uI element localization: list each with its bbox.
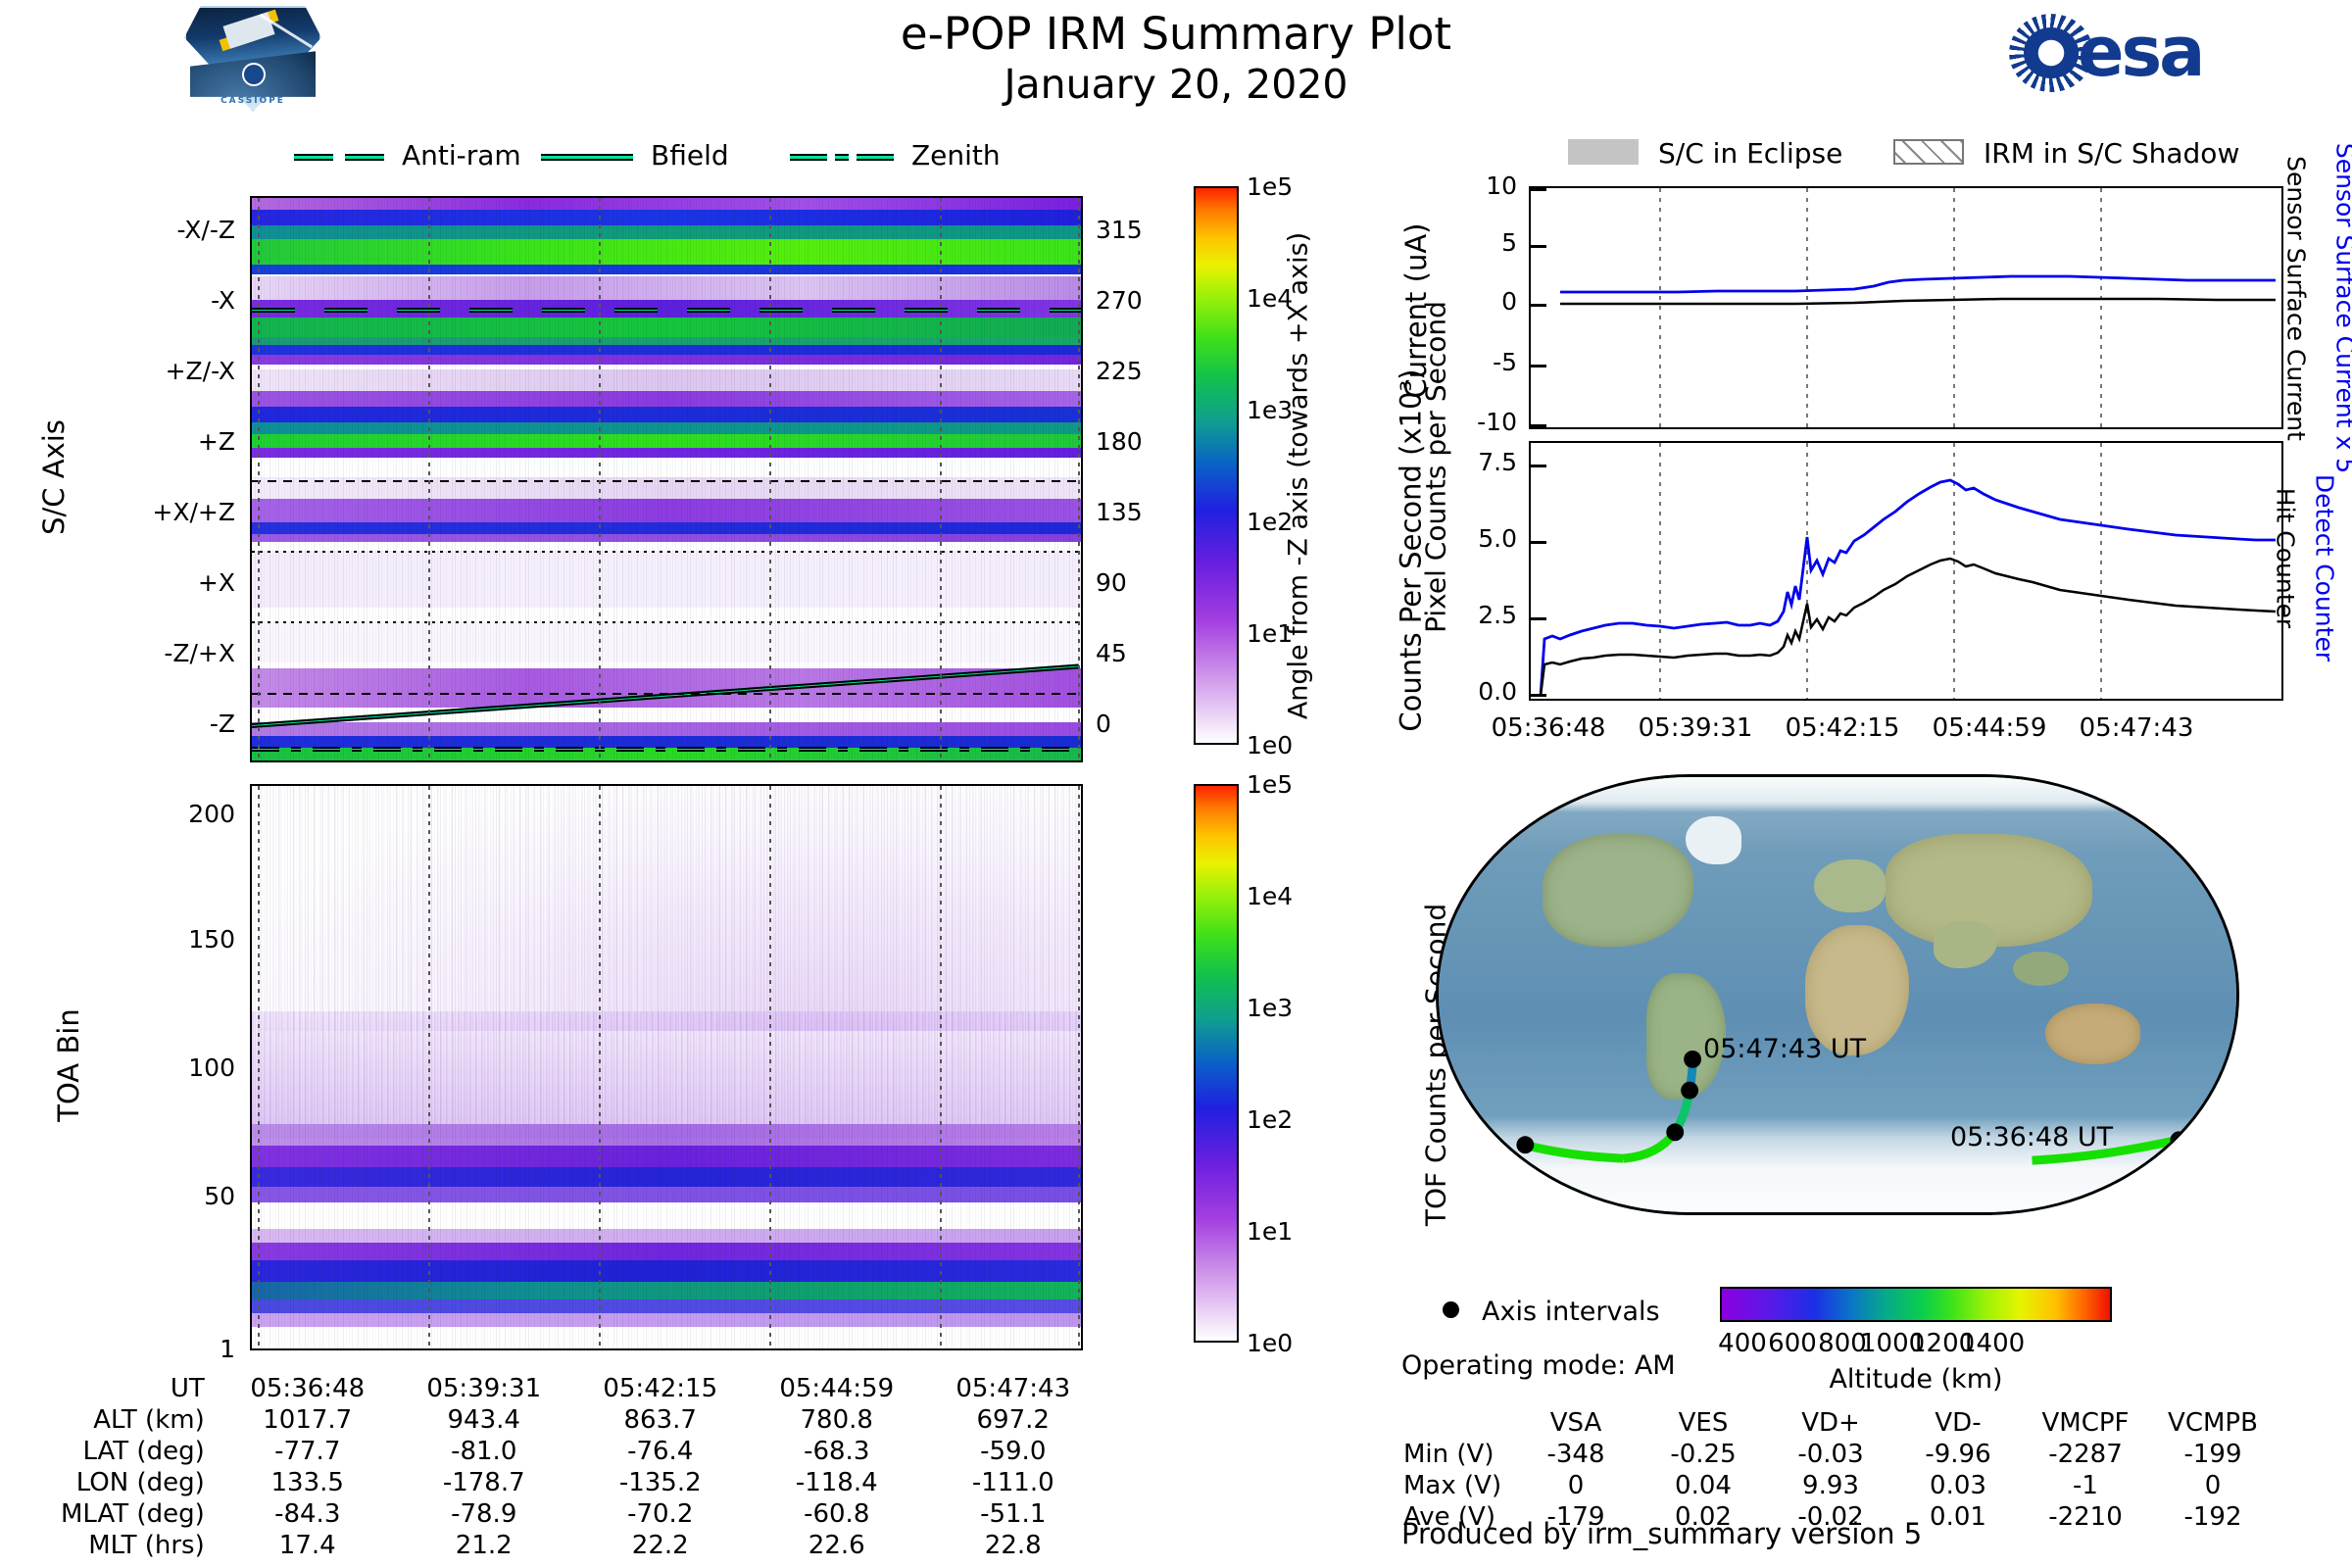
volt-col-vmcpf: VMCPF xyxy=(2023,1408,2148,1438)
toa-ytick-200: 200 xyxy=(78,800,235,828)
volt-max-vdm: 0.03 xyxy=(1895,1471,2021,1500)
eph-lat-0: -77.7 xyxy=(220,1437,395,1466)
toa-gridline xyxy=(599,786,601,1348)
spec-gridline xyxy=(1078,198,1080,760)
toa-bin-spectrogram-image xyxy=(252,786,1081,1348)
spec-ytick-6: -Z/+X xyxy=(59,639,235,667)
eph-ut-2: 05:42:15 xyxy=(573,1374,748,1403)
eph-alt-0: 1017.7 xyxy=(220,1405,395,1435)
toa-ytick-100: 100 xyxy=(78,1053,235,1082)
volt-min-vsa: -348 xyxy=(1513,1440,1639,1469)
world-map xyxy=(1436,774,2239,1215)
spec-ylabel: S/C Axis xyxy=(37,379,71,575)
current-tick xyxy=(1531,304,1546,307)
eph-row-label-mlat: MLAT (deg) xyxy=(61,1499,219,1529)
eph-mlt-0: 17.4 xyxy=(220,1531,395,1560)
eph-lat-2: -76.4 xyxy=(573,1437,748,1466)
sc-axis-spectrogram-plot[interactable] xyxy=(250,196,1083,762)
current-tick xyxy=(1531,424,1546,427)
legend-bfield-label: Bfield xyxy=(651,139,729,171)
volt-min-vdm: -9.96 xyxy=(1895,1440,2021,1469)
spec-ref-line xyxy=(252,693,1081,695)
current-tick xyxy=(1531,188,1546,191)
cbar2-tick-1e3: 1e3 xyxy=(1247,994,1293,1022)
cbar1-tick-1e0: 1e0 xyxy=(1247,731,1293,759)
spec-gridline xyxy=(428,198,430,760)
eph-mlt-3: 22.6 xyxy=(750,1531,924,1560)
counts-right-label-black: Hit Counter xyxy=(2272,421,2300,696)
operating-mode-label: Operating mode: AM xyxy=(1401,1350,1676,1381)
table-row: MLAT (deg) -84.3 -78.9 -70.2 -60.8 -51.1 xyxy=(61,1499,1101,1529)
spec-angle-tick-180: 180 xyxy=(1096,427,1143,456)
counts-tick xyxy=(1531,617,1546,620)
spec-angle-tick-0: 0 xyxy=(1096,710,1111,738)
voltage-table: VSA VES VD+ VD- VMCPF VCMPB Min (V) -348… xyxy=(1401,1406,2278,1534)
legend-zenith-dot xyxy=(835,154,849,161)
cbar2-tick-1e1: 1e1 xyxy=(1247,1217,1293,1246)
eclipse-legend: S/C in Eclipse IRM in S/C Shadow xyxy=(1568,137,2313,171)
toa-gridline xyxy=(428,786,430,1348)
zenith-trace xyxy=(252,747,1081,752)
volt-col-ves: VES xyxy=(1641,1408,1766,1438)
orbit-track-map[interactable]: 05:47:43 UT 05:36:48 UT xyxy=(1436,774,2239,1215)
counts-right-label-blue: Detect Counter xyxy=(2311,421,2339,715)
eph-lon-3: -118.4 xyxy=(750,1468,924,1497)
eph-ut-0: 05:36:48 xyxy=(220,1374,395,1403)
toa-ytick-50: 50 xyxy=(78,1182,235,1210)
counts-tick xyxy=(1531,541,1546,544)
eph-mlt-1: 21.2 xyxy=(397,1531,571,1560)
spec-angle-tick-45: 45 xyxy=(1096,639,1127,667)
spec-gridline xyxy=(769,198,771,760)
legend-shadow-label: IRM in S/C Shadow xyxy=(1984,137,2239,170)
esa-wordmark: esa xyxy=(2078,12,2202,92)
pixel-counts-colorbar xyxy=(1194,186,1239,745)
current-tick xyxy=(1531,365,1546,367)
eph-mlt-2: 22.2 xyxy=(573,1531,748,1560)
cassiope-logo: CASSIOPE xyxy=(184,6,321,112)
volt-col-vdp: VD+ xyxy=(1768,1408,1893,1438)
volt-row-max-label: Max (V) xyxy=(1403,1471,1511,1500)
table-row: UT 05:36:48 05:39:31 05:42:15 05:44:59 0… xyxy=(61,1374,1101,1403)
spec-gridline xyxy=(599,198,601,760)
volt-max-vsa: 0 xyxy=(1513,1471,1639,1500)
page-title: e-POP IRM Summary Plot xyxy=(0,8,2352,60)
eph-alt-3: 780.8 xyxy=(750,1405,924,1435)
altitude-colorbar xyxy=(1720,1287,2112,1322)
spec-ref-line xyxy=(252,551,1081,553)
eph-mlat-2: -70.2 xyxy=(573,1499,748,1529)
legend-bfield-line xyxy=(541,154,633,161)
volt-min-ves: -0.25 xyxy=(1641,1440,1766,1469)
legend-antiram-dash-b xyxy=(345,154,384,161)
page-subtitle: January 20, 2020 xyxy=(0,61,2352,108)
toa-ytick-1: 1 xyxy=(78,1335,235,1363)
spec-ytick-4: +X/+Z xyxy=(59,498,235,526)
orbit-marker xyxy=(1666,1123,1684,1141)
volt-col-vdm: VD- xyxy=(1895,1408,2021,1438)
eph-row-label-lat: LAT (deg) xyxy=(61,1437,219,1466)
orbit-end-time-label: 05:47:43 UT xyxy=(1703,1034,1866,1064)
volt-min-vdp: -0.03 xyxy=(1768,1440,1893,1469)
orbit-segment-green xyxy=(1524,1145,1623,1158)
current-tick xyxy=(1531,245,1546,248)
sc-axis-spectrogram-image xyxy=(252,198,1081,760)
orbit-marker-start xyxy=(2170,1131,2187,1149)
cbar1-tick-1e3: 1e3 xyxy=(1247,396,1293,424)
orbit-marker xyxy=(1516,1136,1534,1153)
legend-zenith-dash-b xyxy=(857,154,894,161)
sensor-surface-current-plot[interactable] xyxy=(1529,186,2283,429)
orbit-track xyxy=(1439,777,2236,1215)
table-header-row: VSA VES VD+ VD- VMCPF VCMPB xyxy=(1403,1408,2276,1438)
altitude-colorbar-label: Altitude (km) xyxy=(1720,1364,2112,1395)
cassiope-wordmark: CASSIOPE xyxy=(184,96,321,106)
eph-lon-1: -178.7 xyxy=(397,1468,571,1497)
esa-logo: esa xyxy=(2009,8,2303,98)
eph-lon-4: -111.0 xyxy=(926,1468,1101,1497)
eph-ut-1: 05:39:31 xyxy=(397,1374,571,1403)
volt-max-vmcpf: -1 xyxy=(2023,1471,2148,1500)
cbar2-tick-1e2: 1e2 xyxy=(1247,1105,1293,1134)
spec-ref-line xyxy=(252,621,1081,623)
eph-mlat-3: -60.8 xyxy=(750,1499,924,1529)
volt-max-vcmpb: 0 xyxy=(2150,1471,2276,1500)
right-xtick-4: 05:47:43 xyxy=(2048,713,2225,743)
legend-shadow-swatch xyxy=(1893,139,1964,165)
volt-corner xyxy=(1403,1408,1511,1438)
eph-ut-4: 05:47:43 xyxy=(926,1374,1101,1403)
orbit-start-time-label: 05:36:48 UT xyxy=(1950,1122,2113,1152)
eph-alt-4: 697.2 xyxy=(926,1405,1101,1435)
counts-per-second-plot[interactable] xyxy=(1529,441,2283,701)
spec-gridline xyxy=(940,198,942,760)
eph-lat-3: -68.3 xyxy=(750,1437,924,1466)
legend-zenith-label: Zenith xyxy=(911,139,1001,171)
current-right-label-black: Sensor Surface Current xyxy=(2282,132,2311,465)
cbar2-tick-1e0: 1e0 xyxy=(1247,1329,1293,1357)
eph-mlt-4: 22.8 xyxy=(926,1531,1101,1560)
table-row: MLT (hrs) 17.4 21.2 22.2 22.6 22.8 xyxy=(61,1531,1101,1560)
antiram-trace xyxy=(252,308,1081,313)
ephemeris-table: UT 05:36:48 05:39:31 05:42:15 05:44:59 0… xyxy=(59,1372,1102,1562)
orbit-marker xyxy=(1681,1082,1698,1100)
eph-mlat-4: -51.1 xyxy=(926,1499,1101,1529)
eph-mlat-0: -84.3 xyxy=(220,1499,395,1529)
spectrogram-legend: Anti-ram Bfield Zenith xyxy=(294,145,1039,176)
volt-ave-vcmpb: -192 xyxy=(2150,1502,2276,1532)
current-series-black xyxy=(1560,299,2276,304)
volt-min-vmcpf: -2287 xyxy=(2023,1440,2148,1469)
table-row: LON (deg) 133.5 -178.7 -135.2 -118.4 -11… xyxy=(61,1468,1101,1497)
cbar1-tick-1e4: 1e4 xyxy=(1247,284,1293,313)
cbar2-tick-1e4: 1e4 xyxy=(1247,882,1293,910)
counts-series-black xyxy=(1541,559,2276,696)
spec-angle-tick-315: 315 xyxy=(1096,216,1143,244)
toa-gridline xyxy=(769,786,771,1348)
spec-ytick-5: +X xyxy=(59,568,235,597)
current-plot-svg xyxy=(1531,188,2281,427)
axis-intervals-label: Axis intervals xyxy=(1482,1297,1660,1327)
spec-ref-line xyxy=(252,480,1081,482)
cbar1-tick-1e2: 1e2 xyxy=(1247,508,1293,536)
legend-zenith-dash-a xyxy=(790,154,827,161)
eph-alt-2: 863.7 xyxy=(573,1405,748,1435)
spec-angle-tick-225: 225 xyxy=(1096,357,1143,385)
spec-angle-tick-270: 270 xyxy=(1096,286,1143,315)
eph-row-label-mlt: MLT (hrs) xyxy=(61,1531,219,1560)
cassiope-seal xyxy=(242,63,266,86)
footer-text: Produced by irm_summary version 5 xyxy=(1401,1517,1922,1550)
spec-angle-tick-90: 90 xyxy=(1096,568,1127,597)
toa-ylabel: TOA Bin xyxy=(52,967,85,1163)
spec-ytick-0: -X/-Z xyxy=(59,216,235,244)
toa-gridline xyxy=(258,786,260,1348)
eph-lon-2: -135.2 xyxy=(573,1468,748,1497)
table-row: LAT (deg) -77.7 -81.0 -76.4 -68.3 -59.0 xyxy=(61,1437,1101,1466)
table-row: ALT (km) 1017.7 943.4 863.7 780.8 697.2 xyxy=(61,1405,1101,1435)
toa-gridline xyxy=(940,786,942,1348)
spec-angle-tick-135: 135 xyxy=(1096,498,1143,526)
spec-ytick-7: -Z xyxy=(59,710,235,738)
toa-noise-texture xyxy=(252,786,1081,1348)
legend-eclipse-label: S/C in Eclipse xyxy=(1658,137,1842,170)
alt-tick-1400: 1400 xyxy=(1960,1329,2025,1358)
spec-ytick-2: +Z/-X xyxy=(59,357,235,385)
spec-ytick-3: +Z xyxy=(59,427,235,456)
counts-ylabel: Counts Per Second (x10³) xyxy=(1395,438,1427,732)
volt-max-vdp: 9.93 xyxy=(1768,1471,1893,1500)
eph-alt-1: 943.4 xyxy=(397,1405,571,1435)
table-row: Max (V) 0 0.04 9.93 0.03 -1 0 xyxy=(1403,1471,2276,1500)
eph-lat-1: -81.0 xyxy=(397,1437,571,1466)
eph-row-label-alt: ALT (km) xyxy=(61,1405,219,1435)
legend-antiram-dash-a xyxy=(294,154,333,161)
spec-gridline xyxy=(258,198,260,760)
counts-tick xyxy=(1531,465,1546,467)
toa-ytick-150: 150 xyxy=(78,925,235,954)
volt-col-vcmpb: VCMPB xyxy=(2150,1408,2276,1438)
table-row: Min (V) -348 -0.25 -0.03 -9.96 -2287 -19… xyxy=(1403,1440,2276,1469)
cbar1-tick-1e5: 1e5 xyxy=(1247,172,1293,201)
volt-max-ves: 0.04 xyxy=(1641,1471,1766,1500)
counts-tick xyxy=(1531,694,1546,697)
counts-plot-svg xyxy=(1531,443,2281,699)
counts-series-blue xyxy=(1541,480,2276,696)
legend-antiram-label: Anti-ram xyxy=(402,139,521,171)
axis-intervals-marker-icon xyxy=(1443,1301,1459,1318)
eph-lat-4: -59.0 xyxy=(926,1437,1101,1466)
volt-col-vsa: VSA xyxy=(1513,1408,1639,1438)
tof-counts-colorbar xyxy=(1194,784,1239,1343)
volt-row-min-label: Min (V) xyxy=(1403,1440,1511,1469)
current-series-blue xyxy=(1560,276,2276,292)
eph-row-label-ut: UT xyxy=(61,1374,219,1403)
volt-ave-vmcpf: -2210 xyxy=(2023,1502,2148,1532)
toa-bin-spectrogram-plot[interactable] xyxy=(250,784,1083,1350)
orbit-marker-end xyxy=(1684,1051,1701,1068)
cbar2-tick-1e5: 1e5 xyxy=(1247,770,1293,799)
volt-min-vcmpb: -199 xyxy=(2150,1440,2276,1469)
eph-lon-0: 133.5 xyxy=(220,1468,395,1497)
eph-row-label-lon: LON (deg) xyxy=(61,1468,219,1497)
eph-mlat-1: -78.9 xyxy=(397,1499,571,1529)
spec-ytick-1: -X xyxy=(59,286,235,315)
toa-gridline xyxy=(1078,786,1080,1348)
legend-eclipse-swatch xyxy=(1568,139,1639,165)
eph-ut-3: 05:44:59 xyxy=(750,1374,924,1403)
cbar1-tick-1e1: 1e1 xyxy=(1247,619,1293,648)
